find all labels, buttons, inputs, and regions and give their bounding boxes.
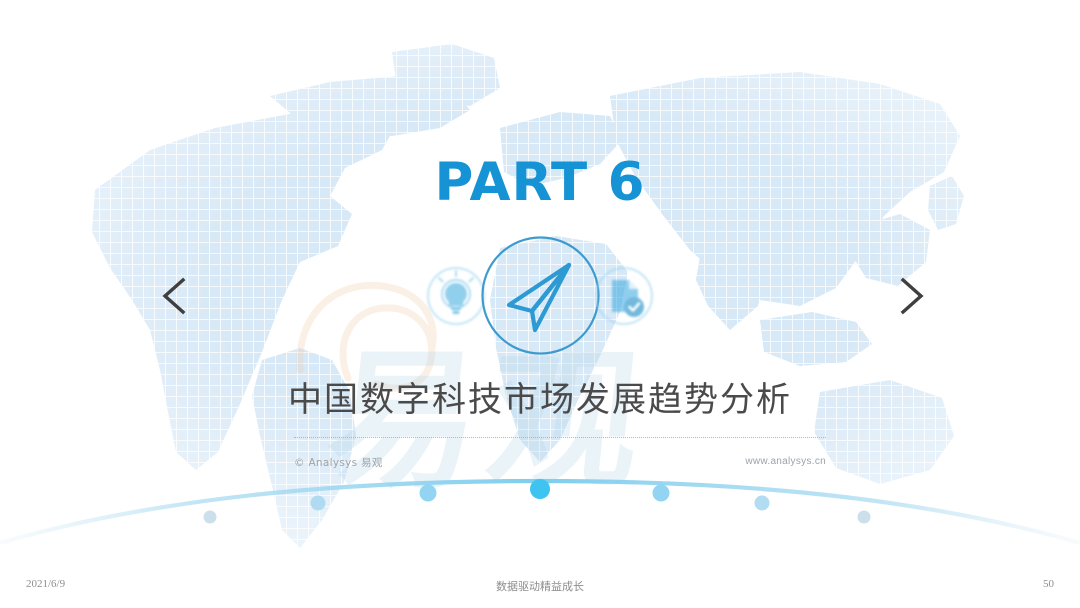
progress-dot bbox=[204, 511, 217, 524]
slide-heading: 中国数字科技市场发展趋势分析 bbox=[0, 372, 1080, 421]
dotted-divider bbox=[294, 437, 826, 438]
progress-arc bbox=[0, 455, 1080, 565]
progress-dot bbox=[755, 496, 770, 511]
progress-dot bbox=[311, 496, 326, 511]
chevron-left-icon[interactable] bbox=[152, 272, 198, 320]
progress-dots bbox=[204, 479, 871, 524]
progress-dot bbox=[653, 485, 670, 502]
presentation-slide: 易观 PART 6 bbox=[0, 0, 1080, 608]
footer-tagline: 数据驱动精益成长 bbox=[0, 578, 1080, 594]
icon-cluster bbox=[415, 232, 665, 360]
paper-plane-icon bbox=[477, 232, 604, 359]
progress-dot bbox=[858, 511, 871, 524]
progress-dot bbox=[420, 485, 437, 502]
chevron-right-icon[interactable] bbox=[888, 272, 934, 320]
document-check-icon bbox=[593, 265, 655, 327]
website-url[interactable]: www.analysys.cn bbox=[0, 456, 826, 467]
progress-dot-active bbox=[530, 479, 550, 499]
footer-page-number: 50 bbox=[1043, 578, 1054, 590]
part-label: PART 6 bbox=[0, 152, 1080, 213]
